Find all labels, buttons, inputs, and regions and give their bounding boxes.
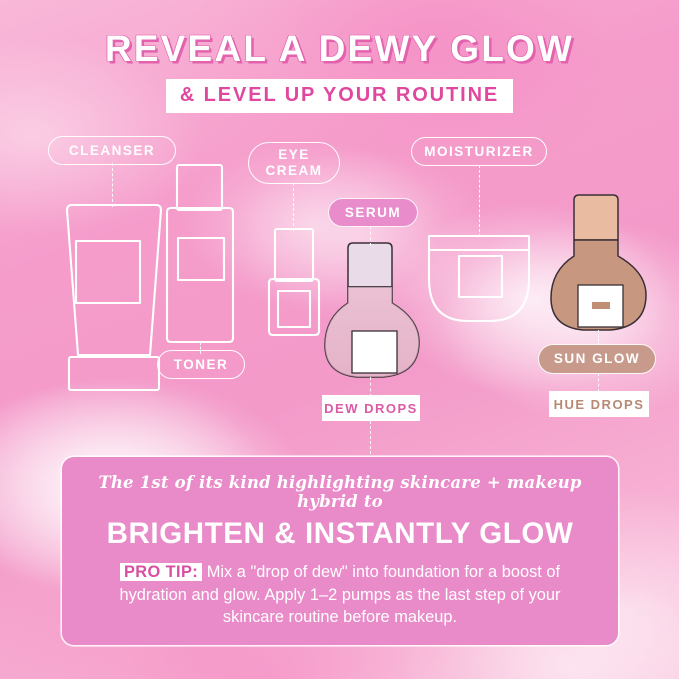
product-label-hue-drops-text: HUE DROPS	[554, 397, 645, 412]
connector-dew-drops-to-panel	[370, 421, 371, 459]
step-badge-sun-glow[interactable]: SUN GLOW	[538, 344, 656, 374]
connector-moisturizer	[479, 165, 480, 237]
step-badge-toner[interactable]: TONER	[157, 350, 245, 379]
hue-drops-bottle-icon	[551, 195, 646, 330]
product-label-dew-drops[interactable]: DEW DROPS	[322, 395, 420, 421]
step-label-sun-glow: SUN GLOW	[554, 351, 640, 366]
connector-cleanser	[112, 163, 113, 207]
step-label-toner: TONER	[174, 357, 229, 372]
pro-tip-label: PRO TIP:	[120, 563, 202, 581]
promo-body: PRO TIP: Mix a "drop of dew" into founda…	[90, 561, 590, 630]
promo-panel: The 1st of its kind highlighting skincar…	[62, 457, 618, 645]
product-label-dew-drops-text: DEW DROPS	[324, 401, 418, 416]
promo-headline: BRIGHTEN & INSTANTLY GLOW	[107, 517, 574, 551]
step-badge-serum[interactable]: SERUM	[328, 198, 418, 227]
eye-cream-bottle-icon	[269, 229, 319, 335]
connector-dew-drops	[370, 377, 371, 397]
connector-sun-glow	[598, 330, 599, 345]
product-label-hue-drops[interactable]: HUE DROPS	[549, 391, 649, 417]
connector-serum	[370, 226, 371, 246]
connector-hue-drops	[598, 373, 599, 392]
step-badge-eye-cream[interactable]: EYE CREAM	[248, 142, 340, 184]
step-label-serum: SERUM	[345, 205, 401, 220]
infographic-canvas: REVEAL A DEWY GLOW & LEVEL UP YOUR ROUTI…	[0, 0, 679, 679]
step-label-moisturizer: MOISTURIZER	[424, 144, 534, 159]
step-label-eye-cream-line1: EYE	[278, 147, 310, 163]
toner-bottle-icon	[167, 165, 233, 342]
cleanser-tube-icon	[67, 205, 161, 390]
step-badge-moisturizer[interactable]: MOISTURIZER	[411, 137, 547, 166]
step-label-eye-cream-line2: CREAM	[266, 163, 323, 179]
moisturizer-jar-icon	[429, 236, 529, 321]
promo-script-line: The 1st of its kind highlighting skincar…	[82, 473, 598, 511]
step-label-cleanser: CLEANSER	[69, 143, 155, 158]
dew-drops-bottle-icon	[325, 243, 419, 377]
connector-eye-cream	[293, 183, 294, 231]
step-badge-cleanser[interactable]: CLEANSER	[48, 136, 176, 165]
